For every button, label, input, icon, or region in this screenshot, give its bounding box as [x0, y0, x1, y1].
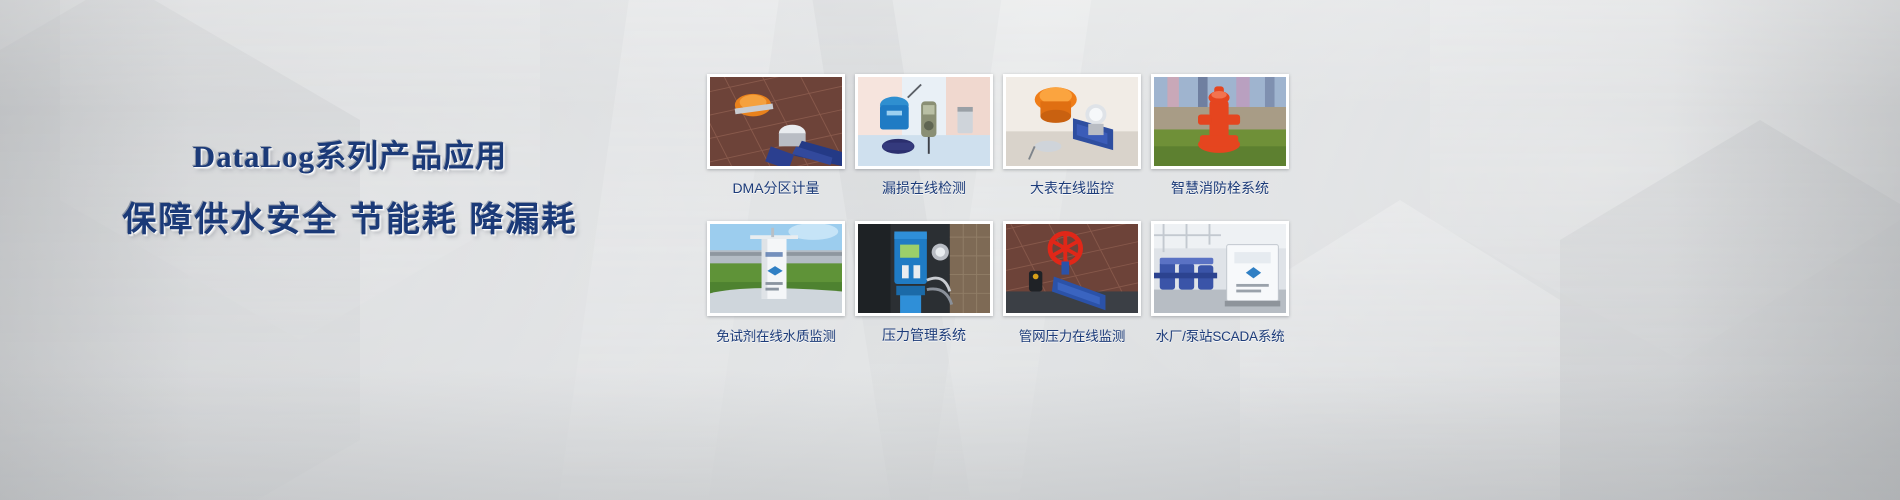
waterworks-scada-photo: [1154, 224, 1286, 313]
grid-item-caption: 管网压力在线监测: [1019, 325, 1125, 345]
thumbnail-frame[interactable]: [1003, 221, 1141, 316]
grid-item-caption: 压力管理系统: [882, 325, 966, 345]
grid-row: 免试剂在线水质监测: [705, 221, 1295, 345]
thumbnail-frame[interactable]: [855, 221, 993, 316]
grid-item-caption: 水厂/泵站SCADA系统: [1156, 325, 1285, 345]
grid-item-smart-hydrant[interactable]: 智慧消防栓系统: [1149, 74, 1291, 198]
headline-block: DataLog系列产品应用 保障供水安全 节能耗 降漏耗: [0, 140, 700, 239]
grid-item-water-quality[interactable]: 免试剂在线水质监测: [705, 221, 847, 345]
grid-item-pipe-network-pressure[interactable]: 管网压力在线监测: [1001, 221, 1143, 345]
grid-item-caption: 免试剂在线水质监测: [716, 325, 836, 345]
grid-item-dma-metering[interactable]: DMA分区计量: [705, 74, 847, 198]
grid-row: DMA分区计量: [705, 74, 1295, 198]
reagent-free-water-quality-photo: [710, 224, 842, 313]
thumbnail-frame[interactable]: [1151, 221, 1289, 316]
dma-metering-photo: [710, 77, 842, 166]
grid-item-caption: 大表在线监控: [1030, 178, 1114, 198]
grid-item-caption: 漏损在线检测: [882, 178, 966, 198]
leak-detection-photo: [858, 77, 990, 166]
promotional-banner: DataLog系列产品应用 保障供水安全 节能耗 降漏耗: [0, 0, 1900, 500]
grid-item-caption: 智慧消防栓系统: [1171, 178, 1269, 198]
thumbnail-frame[interactable]: [707, 221, 845, 316]
grid-item-leak-detection[interactable]: 漏损在线检测: [853, 74, 995, 198]
grid-item-caption: DMA分区计量: [732, 178, 819, 198]
product-application-grid: DMA分区计量: [705, 74, 1295, 345]
thumbnail-frame[interactable]: [1151, 74, 1289, 169]
smart-hydrant-photo: [1154, 77, 1286, 166]
grid-item-large-meter-monitor[interactable]: 大表在线监控: [1001, 74, 1143, 198]
pipe-network-pressure-photo: [1006, 224, 1138, 313]
grid-item-waterworks-scada[interactable]: 水厂/泵站SCADA系统: [1149, 221, 1291, 345]
grid-item-pressure-management[interactable]: 压力管理系统: [853, 221, 995, 345]
large-meter-monitor-photo: [1006, 77, 1138, 166]
headline-line-2: 保障供水安全 节能耗 降漏耗: [0, 201, 700, 239]
pressure-management-photo: [858, 224, 990, 313]
thumbnail-frame[interactable]: [855, 74, 993, 169]
headline-line-1: DataLog系列产品应用: [0, 140, 700, 174]
thumbnail-frame[interactable]: [707, 74, 845, 169]
thumbnail-frame[interactable]: [1003, 74, 1141, 169]
